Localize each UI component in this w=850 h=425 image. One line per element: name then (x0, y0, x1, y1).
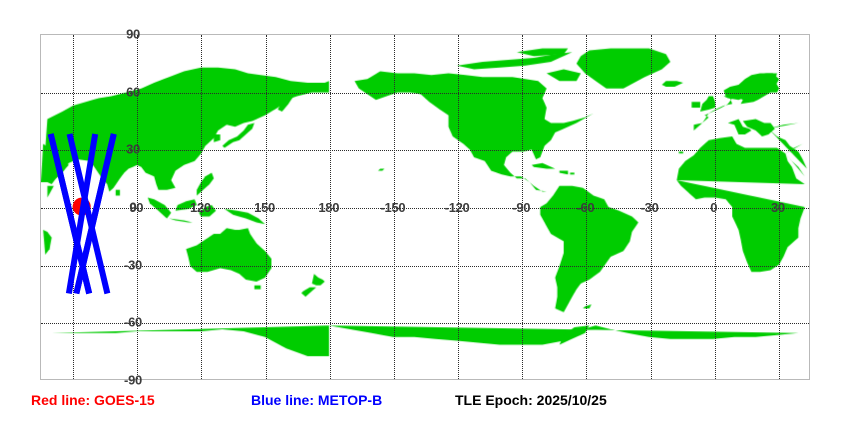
y-axis-tick-label: 60 (126, 84, 140, 99)
y-axis-tick-label: 30 (126, 142, 140, 157)
x-axis-tick-label: -90 (512, 200, 530, 215)
x-axis-tick-label: 150 (254, 200, 275, 215)
legend-red-line-goes15: Red line: GOES-15 (31, 392, 155, 408)
legend-tle-epoch: TLE Epoch: 2025/10/25 (455, 392, 607, 408)
x-axis-tick-label: 180 (318, 200, 339, 215)
y-axis-tick-label: -60 (124, 315, 142, 330)
x-axis-tick-label: 30 (771, 200, 785, 215)
ground-track-map-page: -300306090120150180-150-120-90-609060300… (0, 0, 850, 425)
gridline-parallel (41, 323, 809, 324)
gridline-parallel (41, 208, 809, 209)
world-map-canvas (41, 35, 809, 379)
y-axis-tick-label: 90 (126, 27, 140, 42)
gridline-parallel (41, 150, 809, 151)
y-axis-tick-label: -30 (124, 257, 142, 272)
x-axis-tick-label: 0 (710, 200, 717, 215)
x-axis-tick-label: -30 (641, 200, 659, 215)
legend-blue-line-metopb: Blue line: METOP-B (251, 392, 382, 408)
legend-caption: Red line: GOES-15 Blue line: METOP-B TLE… (0, 392, 850, 422)
x-axis-tick-label: -60 (576, 200, 594, 215)
gridline-parallel (41, 266, 809, 267)
y-axis-tick-label: -90 (124, 373, 142, 388)
x-axis-tick-label: -150 (380, 200, 405, 215)
x-axis-tick-label: 120 (190, 200, 211, 215)
x-axis-tick-label: -120 (445, 200, 470, 215)
map-plot-frame (40, 34, 810, 380)
y-axis-tick-label: 0 (130, 200, 137, 215)
x-axis-tick-label: 60 (65, 200, 79, 215)
gridline-parallel (41, 93, 809, 94)
